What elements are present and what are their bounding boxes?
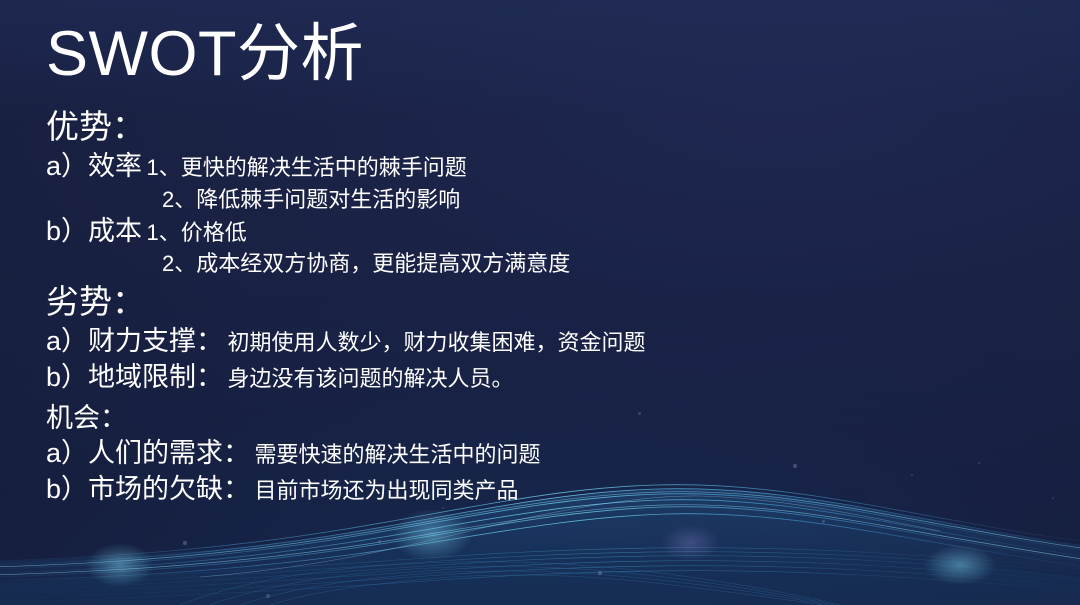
page-title: SWOT分析 [46, 22, 364, 86]
item-label: a）效率 [46, 151, 142, 181]
list-item: a）效率 1、更快的解决生活中的棘手问题 [46, 149, 1046, 185]
item-text: 需要快速的解决生活中的问题 [254, 442, 540, 467]
list-item: 2、降低棘手问题对生活的影响 [46, 185, 1046, 214]
item-label: a）财力支撑： [46, 326, 223, 356]
item-text: 身边没有该问题的解决人员。 [227, 366, 513, 391]
item-label: b）地域限制： [46, 362, 223, 392]
item-label: b）成本 [46, 216, 142, 246]
item-text: 2、降低棘手问题对生活的影响 [162, 187, 460, 212]
presentation-slide: SWOT分析 优势： a）效率 1、更快的解决生活中的棘手问题 2、降低棘手问题… [0, 0, 1080, 605]
list-item: b）市场的欠缺： 目前市场还为出现同类产品 [46, 472, 1046, 508]
item-text: 目前市场还为出现同类产品 [254, 478, 518, 503]
item-text: 1、价格低 [146, 220, 246, 245]
item-label: a）人们的需求： [46, 438, 250, 468]
item-text: 2、成本经双方协商，更能提高双方满意度 [162, 251, 570, 276]
list-item: a）财力支撑： 初期使用人数少，财力收集困难，资金问题 [46, 324, 1046, 360]
list-item: a）人们的需求： 需要快速的解决生活中的问题 [46, 436, 1046, 472]
section-heading-strengths: 优势： [46, 106, 1046, 149]
swot-body: 优势： a）效率 1、更快的解决生活中的棘手问题 2、降低棘手问题对生活的影响 … [46, 106, 1046, 508]
section-heading-weaknesses: 劣势： [46, 281, 1046, 324]
section-heading-opportunities: 机会： [46, 401, 1046, 436]
item-label: b）市场的欠缺： [46, 474, 250, 504]
list-item: 2、成本经双方协商，更能提高双方满意度 [46, 249, 1046, 278]
item-text: 初期使用人数少，财力收集困难，资金问题 [227, 330, 645, 355]
list-item: b）成本 1、价格低 [46, 214, 1046, 250]
list-item: b）地域限制： 身边没有该问题的解决人员。 [46, 360, 1046, 396]
item-text: 1、更快的解决生活中的棘手问题 [146, 155, 466, 180]
